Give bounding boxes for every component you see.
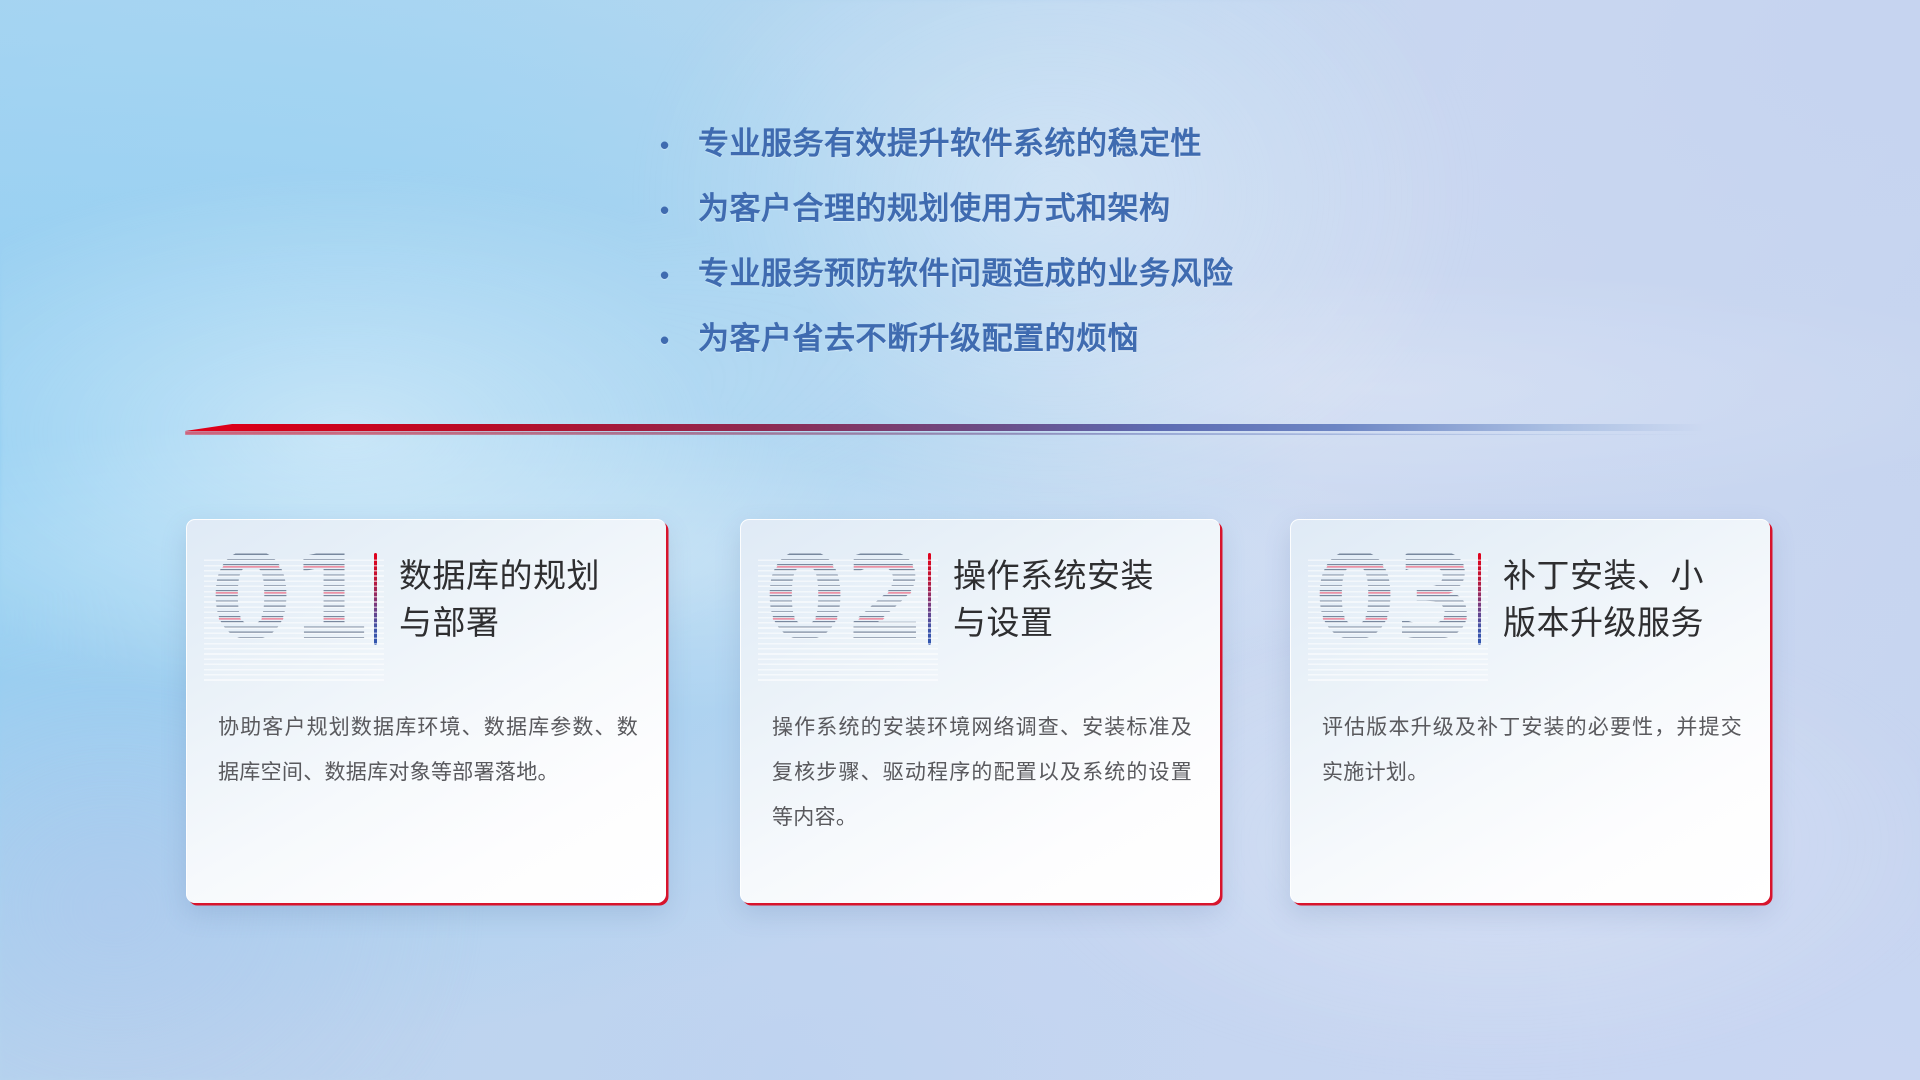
card-number-striped: 01 xyxy=(210,538,370,656)
card-header: 01 01 数据库的规划与部署 xyxy=(186,519,666,679)
bullet-dot-icon: • xyxy=(660,308,698,372)
card-number-striped: 02 xyxy=(764,538,924,656)
list-item: • 专业服务有效提升软件系统的稳定性 xyxy=(660,112,1480,177)
card-number-block: 02 02 xyxy=(740,538,924,660)
card-number-block: 01 01 xyxy=(186,538,370,660)
card-title-divider xyxy=(928,553,931,645)
list-item: • 为客户合理的规划使用方式和架构 xyxy=(660,177,1480,242)
card-title: 数据库的规划与部署 xyxy=(399,552,614,646)
section-divider-rule xyxy=(185,424,1705,438)
card-title-divider xyxy=(374,553,377,645)
card-title: 操作系统安装与设置 xyxy=(953,552,1168,646)
bullet-text: 专业服务预防软件问题造成的业务风险 xyxy=(698,242,1234,306)
card-body-text: 评估版本升级及补丁安装的必要性，并提交实施计划。 xyxy=(1322,705,1742,795)
bullet-text: 为客户省去不断升级配置的烦恼 xyxy=(698,307,1139,371)
service-card[interactable]: 02 02 操作系统安装与设置 操作系统的安装环境网络调查、安装标准及复核步骤、… xyxy=(740,519,1220,903)
card-title: 补丁安装、小版本升级服务 xyxy=(1503,552,1718,646)
service-card-group: 01 01 数据库的规划与部署 协助客户规划数据库环境、数据库参数、数据库空间、… xyxy=(0,519,1920,909)
card-number-striped: 03 xyxy=(1314,538,1474,656)
card-body-text: 协助客户规划数据库环境、数据库参数、数据库空间、数据库对象等部署落地。 xyxy=(218,705,638,795)
card-header: 03 03 补丁安装、小版本升级服务 xyxy=(1290,519,1770,679)
service-card[interactable]: 01 01 数据库的规划与部署 协助客户规划数据库环境、数据库参数、数据库空间、… xyxy=(186,519,666,903)
bullet-text: 专业服务有效提升软件系统的稳定性 xyxy=(698,112,1202,176)
card-number-block: 03 03 xyxy=(1290,538,1474,660)
card-header: 02 02 操作系统安装与设置 xyxy=(740,519,1220,679)
list-item: • 为客户省去不断升级配置的烦恼 xyxy=(660,307,1480,372)
slide-canvas: • 专业服务有效提升软件系统的稳定性 • 为客户合理的规划使用方式和架构 • 专… xyxy=(0,0,1920,1080)
list-item: • 专业服务预防软件问题造成的业务风险 xyxy=(660,242,1480,307)
benefits-bullet-list: • 专业服务有效提升软件系统的稳定性 • 为客户合理的规划使用方式和架构 • 专… xyxy=(660,112,1480,372)
card-body-text: 操作系统的安装环境网络调查、安装标准及复核步骤、驱动程序的配置以及系统的设置等内… xyxy=(772,705,1192,840)
bullet-dot-icon: • xyxy=(660,243,698,307)
bullet-text: 为客户合理的规划使用方式和架构 xyxy=(698,177,1171,241)
bullet-dot-icon: • xyxy=(660,178,698,242)
bullet-dot-icon: • xyxy=(660,113,698,177)
card-title-divider xyxy=(1478,553,1481,645)
divider-line-primary xyxy=(185,424,1705,431)
service-card[interactable]: 03 03 补丁安装、小版本升级服务 评估版本升级及补丁安装的必要性，并提交实施… xyxy=(1290,519,1770,903)
divider-line-shadow xyxy=(185,431,1705,435)
